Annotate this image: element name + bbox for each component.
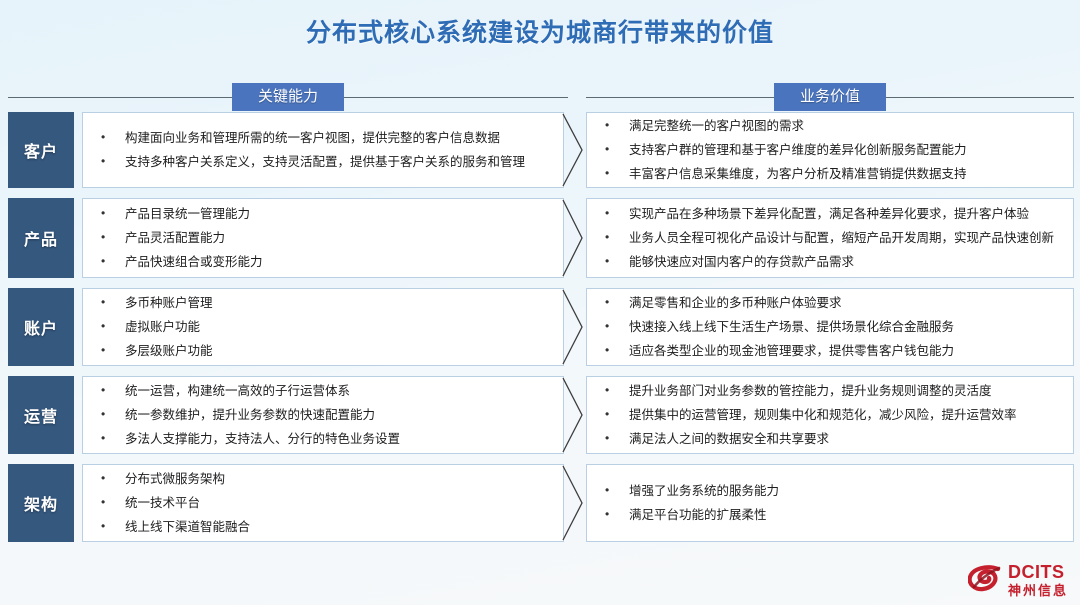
page-title: 分布式核心系统建设为城商行带来的价值 <box>0 13 1080 49</box>
bullet-icon: • <box>99 382 125 399</box>
header-rule-right <box>344 97 568 98</box>
list-item-text: 丰富客户信息采集维度，为客户分析及精准营销提供数据支持 <box>629 165 1063 183</box>
bullet-icon: • <box>99 229 125 246</box>
capabilities-panel: •产品目录统一管理能力•产品灵活配置能力•产品快速组合或变形能力 <box>82 198 564 278</box>
list-item-text: 满足零售和企业的多币种账户体验要求 <box>629 294 1063 312</box>
list-item: •业务人员全程可视化产品设计与配置，缩短产品开发周期，实现产品快速创新 <box>603 226 1063 250</box>
values-panel: •提升业务部门对业务参数的管控能力，提升业务规则调整的灵活度•提供集中的运营管理… <box>586 376 1074 454</box>
brand-logo: DCITS 神州信息 <box>968 563 1068 597</box>
bullet-icon: • <box>99 294 125 311</box>
list-item-text: 多层级账户功能 <box>125 342 553 360</box>
bullet-icon: • <box>603 406 629 423</box>
list-item-text: 统一参数维护，提升业务参数的快速配置能力 <box>125 406 553 424</box>
list-item-text: 满足平台功能的扩展柔性 <box>629 506 1063 524</box>
list-item-text: 满足法人之间的数据安全和共享要求 <box>629 430 1063 448</box>
capabilities-panel: •构建面向业务和管理所需的统一客户视图，提供完整的客户信息数据•支持多种客户关系… <box>82 112 564 188</box>
column-header-values: 业务价值 <box>586 82 1074 112</box>
chevron-right-icon <box>560 464 586 542</box>
bullet-icon: • <box>603 165 629 182</box>
list-item-text: 提升业务部门对业务参数的管控能力，提升业务规则调整的灵活度 <box>629 382 1063 400</box>
bullet-icon: • <box>99 430 125 447</box>
row-label-1[interactable]: 客户 <box>8 112 74 188</box>
list-item-text: 实现产品在多种场景下差异化配置，满足各种差异化要求，提升客户体验 <box>629 205 1063 223</box>
bullet-icon: • <box>603 205 629 222</box>
list-item-text: 业务人员全程可视化产品设计与配置，缩短产品开发周期，实现产品快速创新 <box>629 229 1063 247</box>
bullet-icon: • <box>603 382 629 399</box>
list-item: •实现产品在多种场景下差异化配置，满足各种差异化要求，提升客户体验 <box>603 202 1063 226</box>
header-rule-left <box>586 97 774 98</box>
table-row: 产品•产品目录统一管理能力•产品灵活配置能力•产品快速组合或变形能力•实现产品在… <box>0 198 1080 278</box>
bullet-icon: • <box>99 153 125 170</box>
bullet-icon: • <box>603 117 629 134</box>
list-item: •产品灵活配置能力 <box>99 226 553 250</box>
list-item: •适应各类型企业的现金池管理要求，提供零售客户钱包能力 <box>603 339 1063 363</box>
list-item-text: 产品快速组合或变形能力 <box>125 253 553 271</box>
row-label-3[interactable]: 账户 <box>8 288 74 366</box>
list-item: •丰富客户信息采集维度，为客户分析及精准营销提供数据支持 <box>603 162 1063 186</box>
list-item: •满足完整统一的客户视图的需求 <box>603 114 1063 138</box>
bullet-icon: • <box>603 253 629 270</box>
bullet-icon: • <box>99 406 125 423</box>
list-item-text: 多法人支撑能力，支持法人、分行的特色业务设置 <box>125 430 553 448</box>
values-panel: •满足零售和企业的多币种账户体验要求•快速接入线上线下生活生产场景、提供场景化综… <box>586 288 1074 366</box>
list-item-text: 多币种账户管理 <box>125 294 553 312</box>
row-label-2[interactable]: 产品 <box>8 198 74 278</box>
dcits-swirl-icon <box>968 565 1002 595</box>
bullet-icon: • <box>99 342 125 359</box>
list-item: •产品目录统一管理能力 <box>99 202 553 226</box>
bullet-icon: • <box>603 294 629 311</box>
list-item: •构建面向业务和管理所需的统一客户视图，提供完整的客户信息数据 <box>99 126 553 150</box>
column-header-capabilities-label: 关键能力 <box>232 83 344 111</box>
bullet-icon: • <box>603 342 629 359</box>
list-item: •能够快速应对国内客户的存贷款产品需求 <box>603 250 1063 274</box>
logo-name-cn: 神州信息 <box>1008 584 1068 597</box>
capabilities-panel: •统一运营，构建统一高效的子行运营体系•统一参数维护，提升业务参数的快速配置能力… <box>82 376 564 454</box>
list-item-text: 线上线下渠道智能融合 <box>125 518 553 536</box>
table-row: 客户•构建面向业务和管理所需的统一客户视图，提供完整的客户信息数据•支持多种客户… <box>0 112 1080 188</box>
list-item: •多法人支撑能力，支持法人、分行的特色业务设置 <box>99 427 553 451</box>
bullet-icon: • <box>603 318 629 335</box>
list-item: •增强了业务系统的服务能力 <box>603 479 1063 503</box>
list-item: •线上线下渠道智能融合 <box>99 515 553 539</box>
list-item-text: 分布式微服务架构 <box>125 470 553 488</box>
list-item: •快速接入线上线下生活生产场景、提供场景化综合金融服务 <box>603 315 1063 339</box>
header-rule-right <box>886 97 1074 98</box>
table-row: 架构•分布式微服务架构•统一技术平台•线上线下渠道智能融合•增强了业务系统的服务… <box>0 464 1080 542</box>
list-item-text: 适应各类型企业的现金池管理要求，提供零售客户钱包能力 <box>629 342 1063 360</box>
list-item: •支持客户群的管理和基于客户维度的差异化创新服务配置能力 <box>603 138 1063 162</box>
list-item: •多层级账户功能 <box>99 339 553 363</box>
list-item: •统一参数维护，提升业务参数的快速配置能力 <box>99 403 553 427</box>
logo-text: DCITS 神州信息 <box>1008 563 1068 597</box>
bullet-icon: • <box>99 494 125 511</box>
list-item: •统一运营，构建统一高效的子行运营体系 <box>99 379 553 403</box>
list-item-text: 构建面向业务和管理所需的统一客户视图，提供完整的客户信息数据 <box>125 129 553 147</box>
list-item: •提供集中的运营管理，规则集中化和规范化，减少风险，提升运营效率 <box>603 403 1063 427</box>
values-panel: •满足完整统一的客户视图的需求•支持客户群的管理和基于客户维度的差异化创新服务配… <box>586 112 1074 188</box>
list-item: •虚拟账户功能 <box>99 315 553 339</box>
list-item: •产品快速组合或变形能力 <box>99 250 553 274</box>
list-item: •分布式微服务架构 <box>99 467 553 491</box>
row-label-5[interactable]: 架构 <box>8 464 74 542</box>
list-item-text: 增强了业务系统的服务能力 <box>629 482 1063 500</box>
bullet-icon: • <box>99 129 125 146</box>
list-item-text: 能够快速应对国内客户的存贷款产品需求 <box>629 253 1063 271</box>
bullet-icon: • <box>99 470 125 487</box>
list-item: •满足平台功能的扩展柔性 <box>603 503 1063 527</box>
table-row: 账户•多币种账户管理•虚拟账户功能•多层级账户功能•满足零售和企业的多币种账户体… <box>0 288 1080 366</box>
list-item-text: 支持客户群的管理和基于客户维度的差异化创新服务配置能力 <box>629 141 1063 159</box>
list-item-text: 统一运营，构建统一高效的子行运营体系 <box>125 382 553 400</box>
row-label-4[interactable]: 运营 <box>8 376 74 454</box>
rows-container: 客户•构建面向业务和管理所需的统一客户视图，提供完整的客户信息数据•支持多种客户… <box>0 112 1080 542</box>
bullet-icon: • <box>603 430 629 447</box>
slide-header: 分布式核心系统建设为城商行带来的价值 <box>0 0 1080 62</box>
capabilities-panel: •多币种账户管理•虚拟账户功能•多层级账户功能 <box>82 288 564 366</box>
capabilities-panel: •分布式微服务架构•统一技术平台•线上线下渠道智能融合 <box>82 464 564 542</box>
values-panel: •实现产品在多种场景下差异化配置，满足各种差异化要求，提升客户体验•业务人员全程… <box>586 198 1074 278</box>
bullet-icon: • <box>99 253 125 270</box>
list-item-text: 统一技术平台 <box>125 494 553 512</box>
chevron-right-icon <box>560 376 586 454</box>
bullet-icon: • <box>603 229 629 246</box>
bullet-icon: • <box>603 506 629 523</box>
bullet-icon: • <box>99 318 125 335</box>
list-item-text: 支持多种客户关系定义，支持灵活配置，提供基于客户关系的服务和管理 <box>125 153 553 171</box>
list-item-text: 虚拟账户功能 <box>125 318 553 336</box>
list-item: •提升业务部门对业务参数的管控能力，提升业务规则调整的灵活度 <box>603 379 1063 403</box>
list-item-text: 提供集中的运营管理，规则集中化和规范化，减少风险，提升运营效率 <box>629 406 1063 424</box>
bullet-icon: • <box>603 482 629 499</box>
list-item-text: 产品灵活配置能力 <box>125 229 553 247</box>
list-item-text: 满足完整统一的客户视图的需求 <box>629 117 1063 135</box>
chevron-right-icon <box>560 112 586 188</box>
chevron-right-icon <box>560 198 586 278</box>
list-item: •支持多种客户关系定义，支持灵活配置，提供基于客户关系的服务和管理 <box>99 150 553 174</box>
bullet-icon: • <box>603 141 629 158</box>
table-row: 运营•统一运营，构建统一高效的子行运营体系•统一参数维护，提升业务参数的快速配置… <box>0 376 1080 454</box>
list-item: •统一技术平台 <box>99 491 553 515</box>
logo-name-en: DCITS <box>1008 563 1068 581</box>
column-headers: 关键能力 业务价值 <box>0 82 1080 112</box>
values-panel: •增强了业务系统的服务能力•满足平台功能的扩展柔性 <box>586 464 1074 542</box>
bullet-icon: • <box>99 518 125 535</box>
list-item: •满足零售和企业的多币种账户体验要求 <box>603 291 1063 315</box>
list-item-text: 快速接入线上线下生活生产场景、提供场景化综合金融服务 <box>629 318 1063 336</box>
column-header-values-label: 业务价值 <box>774 83 886 111</box>
column-header-capabilities: 关键能力 <box>8 82 568 112</box>
bullet-icon: • <box>99 205 125 222</box>
list-item-text: 产品目录统一管理能力 <box>125 205 553 223</box>
chevron-right-icon <box>560 288 586 366</box>
list-item: •多币种账户管理 <box>99 291 553 315</box>
list-item: •满足法人之间的数据安全和共享要求 <box>603 427 1063 451</box>
header-rule-left <box>8 97 232 98</box>
